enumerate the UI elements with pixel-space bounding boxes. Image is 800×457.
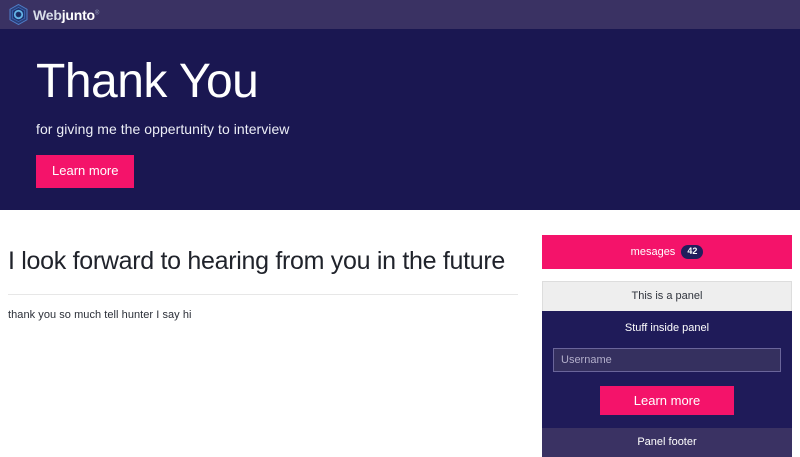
brand-trademark: ® — [95, 10, 99, 16]
panel-button-row: Learn more — [553, 386, 781, 416]
panel-body-title: Stuff inside panel — [553, 322, 781, 335]
info-panel: This is a panel Stuff inside panel Learn… — [542, 281, 792, 457]
page-body: I look forward to hearing from you in th… — [0, 210, 800, 457]
sidebar: mesages42 This is a panel Stuff inside p… — [542, 210, 792, 457]
messages-button[interactable]: mesages42 — [542, 235, 792, 269]
messages-button-label: mesages — [631, 246, 676, 258]
hexagon-ring-icon — [9, 4, 28, 25]
page-title: I look forward to hearing from you in th… — [8, 246, 518, 276]
main-content: I look forward to hearing from you in th… — [0, 210, 530, 457]
hero-learn-more-button[interactable]: Learn more — [36, 155, 134, 187]
panel-learn-more-button[interactable]: Learn more — [600, 386, 734, 416]
hero-jumbotron: Thank You for giving me the oppertunity … — [0, 29, 800, 210]
brand-wordmark: Webjunto® — [33, 8, 99, 22]
brand-word-secondary: junto — [62, 7, 95, 23]
panel-footer: Panel footer — [542, 428, 792, 457]
content-divider — [8, 294, 518, 295]
panel-heading: This is a panel — [542, 281, 792, 311]
brand-logo-link[interactable]: Webjunto® — [9, 4, 99, 25]
panel-body: Stuff inside panel Learn more — [542, 311, 792, 428]
content-paragraph: thank you so much tell hunter I say hi — [8, 309, 518, 321]
hero-title: Thank You — [36, 57, 800, 107]
messages-count-badge: 42 — [681, 245, 703, 259]
brand-word-primary: Web — [33, 7, 62, 23]
username-input[interactable] — [553, 348, 781, 372]
hero-subtitle: for giving me the oppertunity to intervi… — [36, 121, 800, 137]
top-navbar: Webjunto® — [0, 0, 800, 29]
